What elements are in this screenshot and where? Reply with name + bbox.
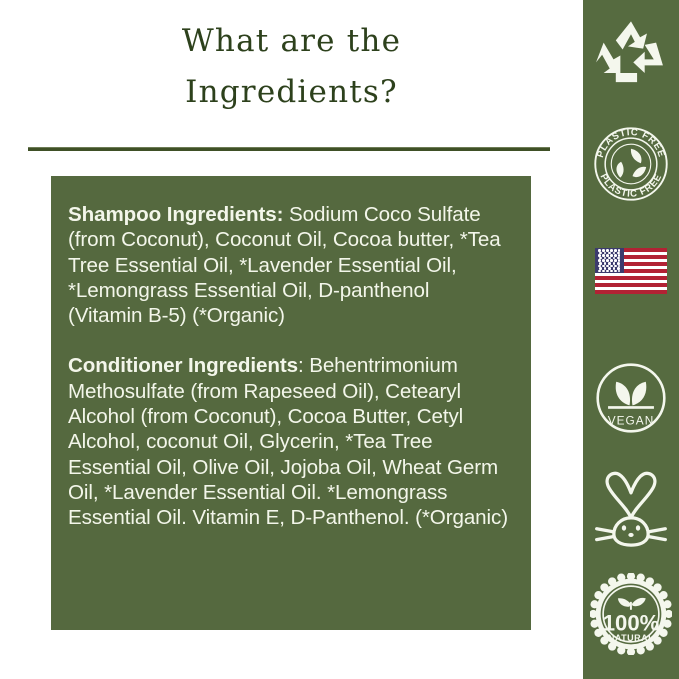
badge-cruelty-free	[583, 464, 679, 560]
recycle-icon	[593, 18, 669, 95]
plastic-free-icon: PLASTIC FREE PLASTIC FREE	[593, 126, 669, 207]
badge-usa-flag	[583, 234, 679, 308]
vegan-leaf-icon: VEGAN	[594, 361, 668, 440]
natural-percent-label: 100%	[603, 610, 660, 635]
cruelty-free-bunny-icon	[592, 469, 670, 556]
svg-text:PLASTIC FREE: PLASTIC FREE	[598, 172, 665, 200]
flag-stars	[595, 248, 624, 273]
svg-text:PLASTIC FREE: PLASTIC FREE	[595, 126, 667, 158]
ingredients-box: Shampoo Ingredients: Sodium Coco Sulfate…	[51, 176, 531, 630]
plastic-free-bottom-label: PLASTIC FREE	[598, 172, 665, 200]
shampoo-ingredients-label: Shampoo Ingredients:	[68, 203, 283, 226]
natural-sub-label: NATURAL	[608, 633, 654, 643]
usa-flag-icon	[595, 248, 667, 294]
plastic-free-top-label: PLASTIC FREE	[595, 126, 667, 158]
hundred-percent-natural-icon: 100% NATURAL	[590, 573, 672, 660]
main-panel: What are the Ingredients? Shampoo Ingred…	[0, 0, 583, 679]
title-divider	[28, 147, 550, 151]
conditioner-ingredients-label: Conditioner Ingredients	[68, 354, 298, 377]
page-title: What are the Ingredients?	[0, 16, 583, 118]
conditioner-ingredients-text: : Behentrimonium Methosulfate (from Rape…	[68, 354, 508, 529]
badge-recycle	[583, 6, 679, 106]
conditioner-ingredients-paragraph: Conditioner Ingredients: Behentrimonium …	[68, 353, 509, 530]
flag-canton	[595, 248, 624, 273]
badge-plastic-free: PLASTIC FREE PLASTIC FREE	[583, 118, 679, 214]
badge-sidebar: PLASTIC FREE PLASTIC FREE	[583, 0, 679, 679]
shampoo-ingredients-paragraph: Shampoo Ingredients: Sodium Coco Sulfate…	[68, 202, 509, 328]
badge-natural: 100% NATURAL	[583, 566, 679, 666]
vegan-label: VEGAN	[608, 413, 655, 427]
badge-vegan: VEGAN	[583, 352, 679, 448]
